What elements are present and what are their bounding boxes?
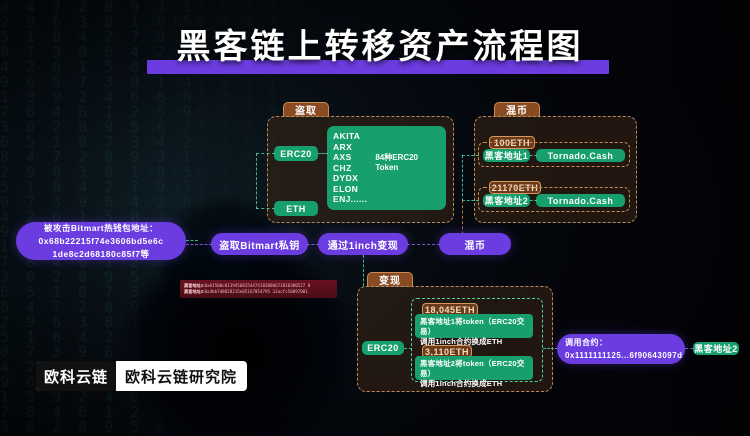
token-count-note: 84种ERC20 Token	[375, 153, 418, 173]
logo-mark: 欧科云链	[36, 361, 116, 391]
connector-steal-vertical	[256, 153, 257, 209]
swap-desc-1: 黑客地址1将token（ERC20交易） 调用1inch合约换成ETH	[415, 314, 533, 338]
swap-desc-2-line-1: 黑客地址2将token（ERC20交易）	[420, 359, 528, 379]
chip-erc20-steal[interactable]: ERC20	[274, 146, 318, 161]
connector-contract-to-wallet	[685, 348, 693, 349]
connector-pill1-to-pill2	[307, 244, 319, 245]
source-wallet-line-3: 1de8c2d68180c85f7等	[53, 248, 150, 261]
source-wallet-line-1: 被攻击Bitmart热钱包地址：	[44, 222, 158, 235]
infographic-stage: 8 4 7 2 0 9 3 1 2 9 6 3 8 1 0 5 5 1 8 4 …	[0, 0, 750, 436]
hacker-address-line-2: 黑客地址2:0x4bb7d8028215e05167054795 32acfc5…	[184, 289, 333, 295]
hacker-address-block: 黑客地址1:0x01500c01394568354474103800671810…	[180, 280, 337, 298]
connector-into-mix-2	[462, 200, 479, 201]
swap-desc-1-line-1: 黑客地址1将token（ERC20交易）	[420, 317, 528, 337]
connector-pill2-to-cashout	[363, 255, 364, 286]
page-title-text: 黑客链上转移资产流程图	[145, 24, 615, 70]
contract-call-node[interactable]: 调用合约： 0x1111111125...6f90643097d	[557, 334, 685, 364]
connector-source-to-steal	[186, 240, 198, 241]
connector-mix-vertical	[462, 155, 463, 201]
connector-into-mix-1	[462, 155, 479, 156]
connector-mix-1	[530, 155, 537, 156]
connector-erc20-to-swaps	[404, 348, 412, 349]
chip-erc20-cashout[interactable]: ERC20	[362, 341, 404, 355]
chip-hacker-wallet-1-mix[interactable]: 黑客地址1	[483, 149, 530, 162]
page-title: 黑客链上转移资产流程图	[145, 24, 615, 76]
flow-pill-steal-private-key[interactable]: 盗取Bitmart私钥	[211, 233, 308, 255]
token-list-box: AKITA ARX AXS CHZ DYDX ELON ENJ...... 84…	[327, 126, 446, 210]
chip-hacker-wallet-2-mix[interactable]: 黑客地址2	[483, 194, 530, 207]
group-tab-mix: 混币	[494, 102, 540, 117]
group-tab-steal: 盗取	[283, 102, 329, 117]
chip-eth-steal[interactable]: ETH	[274, 201, 318, 216]
connector-erc20-to-tokens	[318, 153, 328, 154]
contract-call-line-2: 0x1111111125...6f90643097d	[565, 349, 683, 362]
flow-pill-cashout-1inch[interactable]: 通过1inch变现	[318, 233, 408, 255]
chip-tornado-cash-2[interactable]: Tornado.Cash	[536, 194, 625, 207]
contract-call-line-1: 调用合约：	[565, 336, 608, 349]
group-tab-cashout: 变现	[367, 272, 413, 287]
logo-text: 欧科云链研究院	[116, 366, 247, 387]
swap-desc-2-line-2: 调用1inch合约换成ETH	[420, 379, 528, 389]
source-wallet-node[interactable]: 被攻击Bitmart热钱包地址： 0x68b22215f74e3606bd5e6…	[16, 222, 186, 260]
swap-desc-2: 黑客地址2将token（ERC20交易） 调用1inch合约换成ETH	[415, 356, 533, 380]
connector-swaps-to-contract	[543, 348, 558, 349]
connector-source-to-pill1	[186, 244, 212, 245]
connector-in-steal-erc20	[256, 153, 275, 154]
flow-pill-mixing[interactable]: 混币	[439, 233, 511, 255]
connector-pill2-to-pill3	[407, 244, 440, 245]
connector-mix-2	[530, 200, 537, 201]
chip-hacker-wallet-2-out[interactable]: 黑客地址2	[693, 342, 739, 355]
connector-in-steal-eth	[256, 208, 275, 209]
chip-tornado-cash-1[interactable]: Tornado.Cash	[536, 149, 625, 162]
source-wallet-line-2: 0x68b22215f74e3606bd5e6c	[39, 235, 164, 248]
token-list-text: AKITA ARX AXS CHZ DYDX ELON ENJ......	[333, 131, 367, 205]
footer-logo: 欧科云链 欧科云链研究院	[36, 361, 247, 391]
